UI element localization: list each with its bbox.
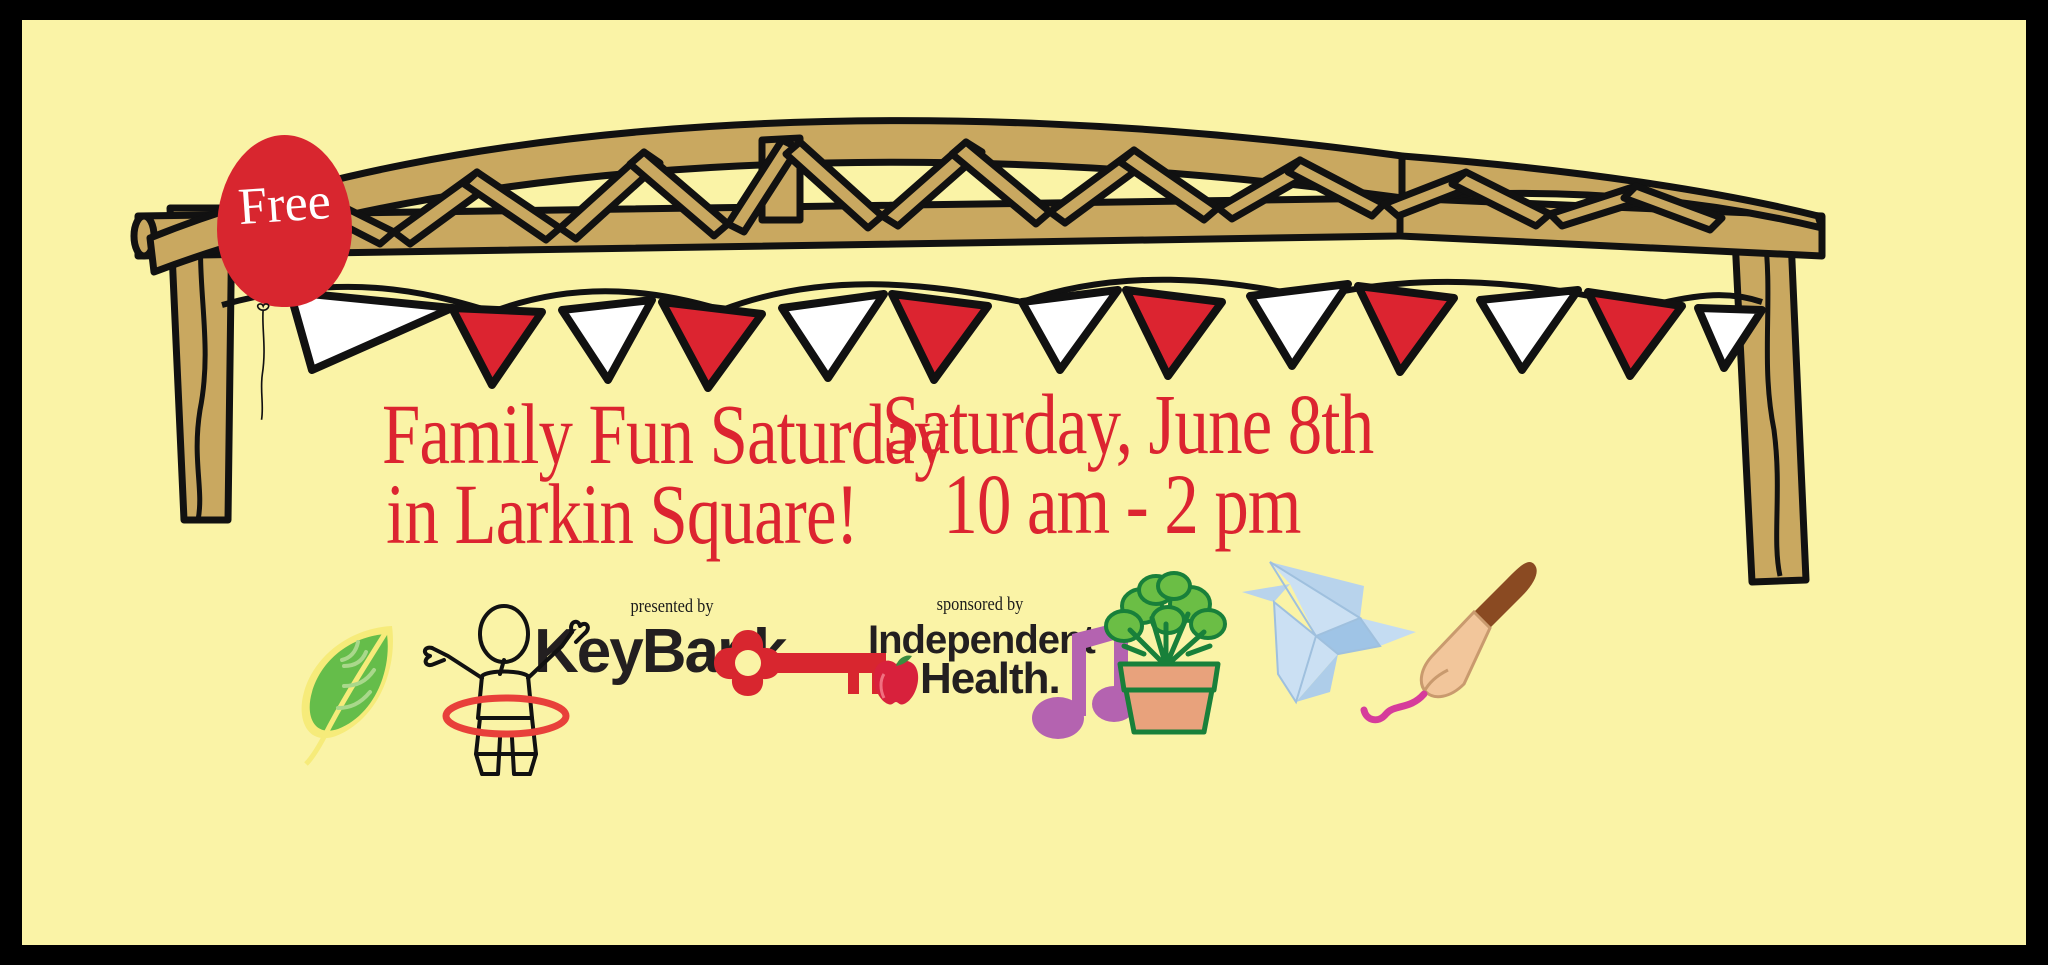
paintbrush-icon	[1364, 558, 1544, 728]
balloon-knot-icon	[255, 302, 273, 316]
hula-hoop-child-icon	[422, 598, 592, 778]
apple-icon	[868, 654, 924, 710]
leaf-icon	[294, 612, 414, 762]
potted-plant-icon	[1104, 568, 1234, 738]
free-balloon-label: Free	[215, 174, 353, 235]
poster-canvas: Free Family Fun Saturday in Larkin Squar…	[22, 20, 2026, 945]
